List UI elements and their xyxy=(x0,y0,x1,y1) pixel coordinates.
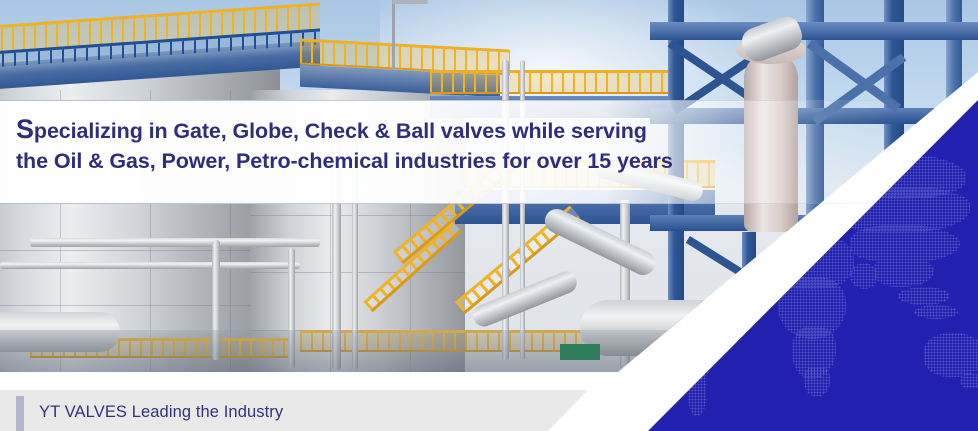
footer-title: YT VALVES Leading the Industry xyxy=(39,398,283,426)
light-fixture xyxy=(392,0,428,4)
light-pole xyxy=(392,0,395,70)
headline-drop-cap: S xyxy=(16,114,34,144)
band-bottom-edge xyxy=(0,203,978,204)
diagonal-brace xyxy=(686,236,792,306)
footer-accent-bar xyxy=(16,396,24,431)
green-tank xyxy=(560,344,600,360)
tank-seam xyxy=(0,305,280,306)
band-top-edge xyxy=(0,100,978,101)
yellow-railing xyxy=(430,70,670,94)
process-pipe xyxy=(0,262,300,269)
headline-line1: pecializing in Gate, Globe, Check & Ball… xyxy=(34,119,647,143)
steel-beam xyxy=(650,22,978,40)
hero-banner: Specializing in Gate, Globe, Check & Bal… xyxy=(0,0,978,431)
headline-text: Specializing in Gate, Globe, Check & Bal… xyxy=(16,116,736,176)
tank-seam xyxy=(0,250,280,251)
process-pipe xyxy=(30,238,320,247)
headline-line2: the Oil & Gas, Power, Petro-chemical ind… xyxy=(16,146,736,176)
